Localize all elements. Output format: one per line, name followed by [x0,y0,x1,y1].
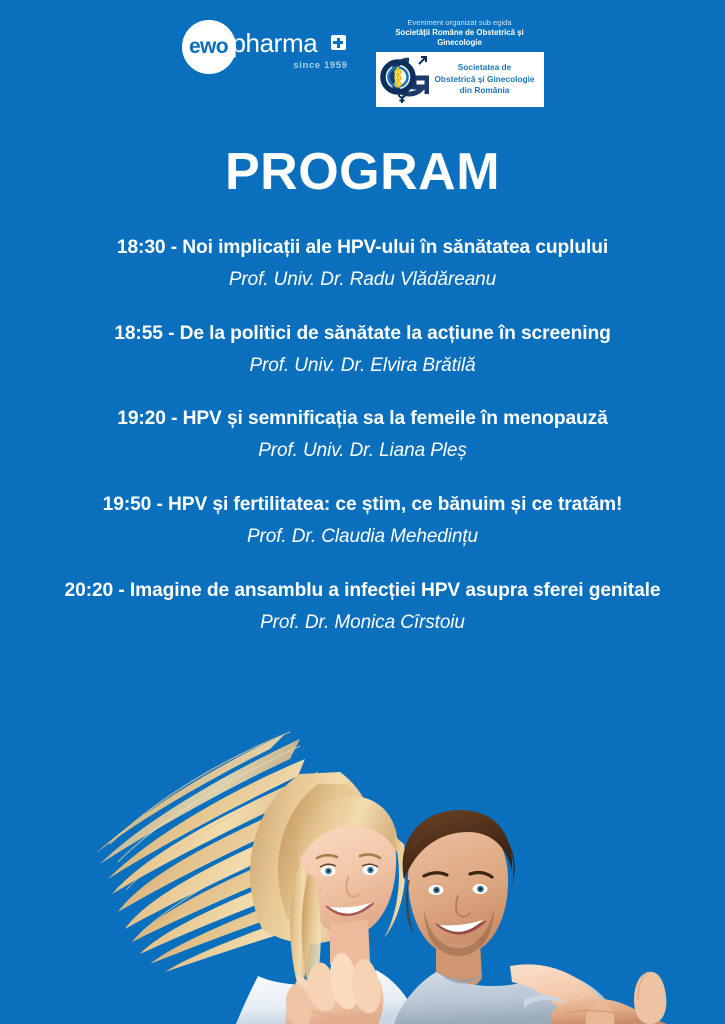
session-title: 20:20 - Imagine de ansamblu a infecției … [0,579,725,604]
session-title: 18:30 - Noi implicații ale HPV-ului în s… [0,236,725,261]
program-list: 18:30 - Noi implicații ale HPV-ului în s… [0,236,725,635]
ewopharma-tagline: since 1959 [293,60,347,71]
sog-line-3: din România [430,85,540,96]
sog-card-text: Societatea de Obstetrică și Ginecologie … [429,62,540,96]
session-title: 19:20 - HPV și semnificația sa la femeil… [0,407,725,432]
sog-line-2: Obstetrică și Ginecologie [430,74,540,85]
sog-logo-card: Societatea de Obstetrică și Ginecologie … [376,52,544,107]
session-title: 19:50 - HPV și fertilitatea: ce știm, ce… [0,493,725,518]
medical-cross-icon [331,35,346,50]
endorsement-caption-line1: Eveniment organizat sub egida [376,18,544,28]
session-speaker: Prof. Univ. Dr. Liana Pleș [0,439,725,464]
session-speaker: Prof. Univ. Dr. Elvira Brătilă [0,354,725,379]
session-speaker: Prof. Dr. Claudia Mehedințu [0,525,725,550]
og-monogram-caduceus-icon [379,54,429,104]
page-title: PROGRAM [0,146,725,198]
session-speaker: Prof. Univ. Dr. Radu Vlădăreanu [0,268,725,293]
program-item: 20:20 - Imagine de ansamblu a infecției … [0,579,725,636]
couple-photo [0,714,725,1024]
header: ewo pharma since 1959 Eveniment organiza… [0,0,725,110]
ewopharma-wordmark: pharma [232,30,318,56]
session-speaker: Prof. Dr. Monica Cîrstoiu [0,611,725,636]
program-item: 19:20 - HPV și semnificația sa la femeil… [0,407,725,464]
ewo-circle-text: ewo [189,36,228,57]
ewo-circle-mark: ewo [182,20,236,74]
program-item: 19:50 - HPV și fertilitatea: ce știm, ce… [0,493,725,550]
sog-endorsement: Eveniment organizat sub egida Societății… [376,18,544,107]
program-item: 18:55 - De la politici de sănătate la ac… [0,322,725,379]
endorsement-caption-line2: Societății Române de Obstetrică și Ginec… [376,28,544,49]
session-title: 18:55 - De la politici de sănătate la ac… [0,322,725,347]
program-item: 18:30 - Noi implicații ale HPV-ului în s… [0,236,725,293]
ewopharma-logo: ewo pharma since 1959 [182,18,354,80]
sog-line-1: Societatea de [430,62,540,73]
